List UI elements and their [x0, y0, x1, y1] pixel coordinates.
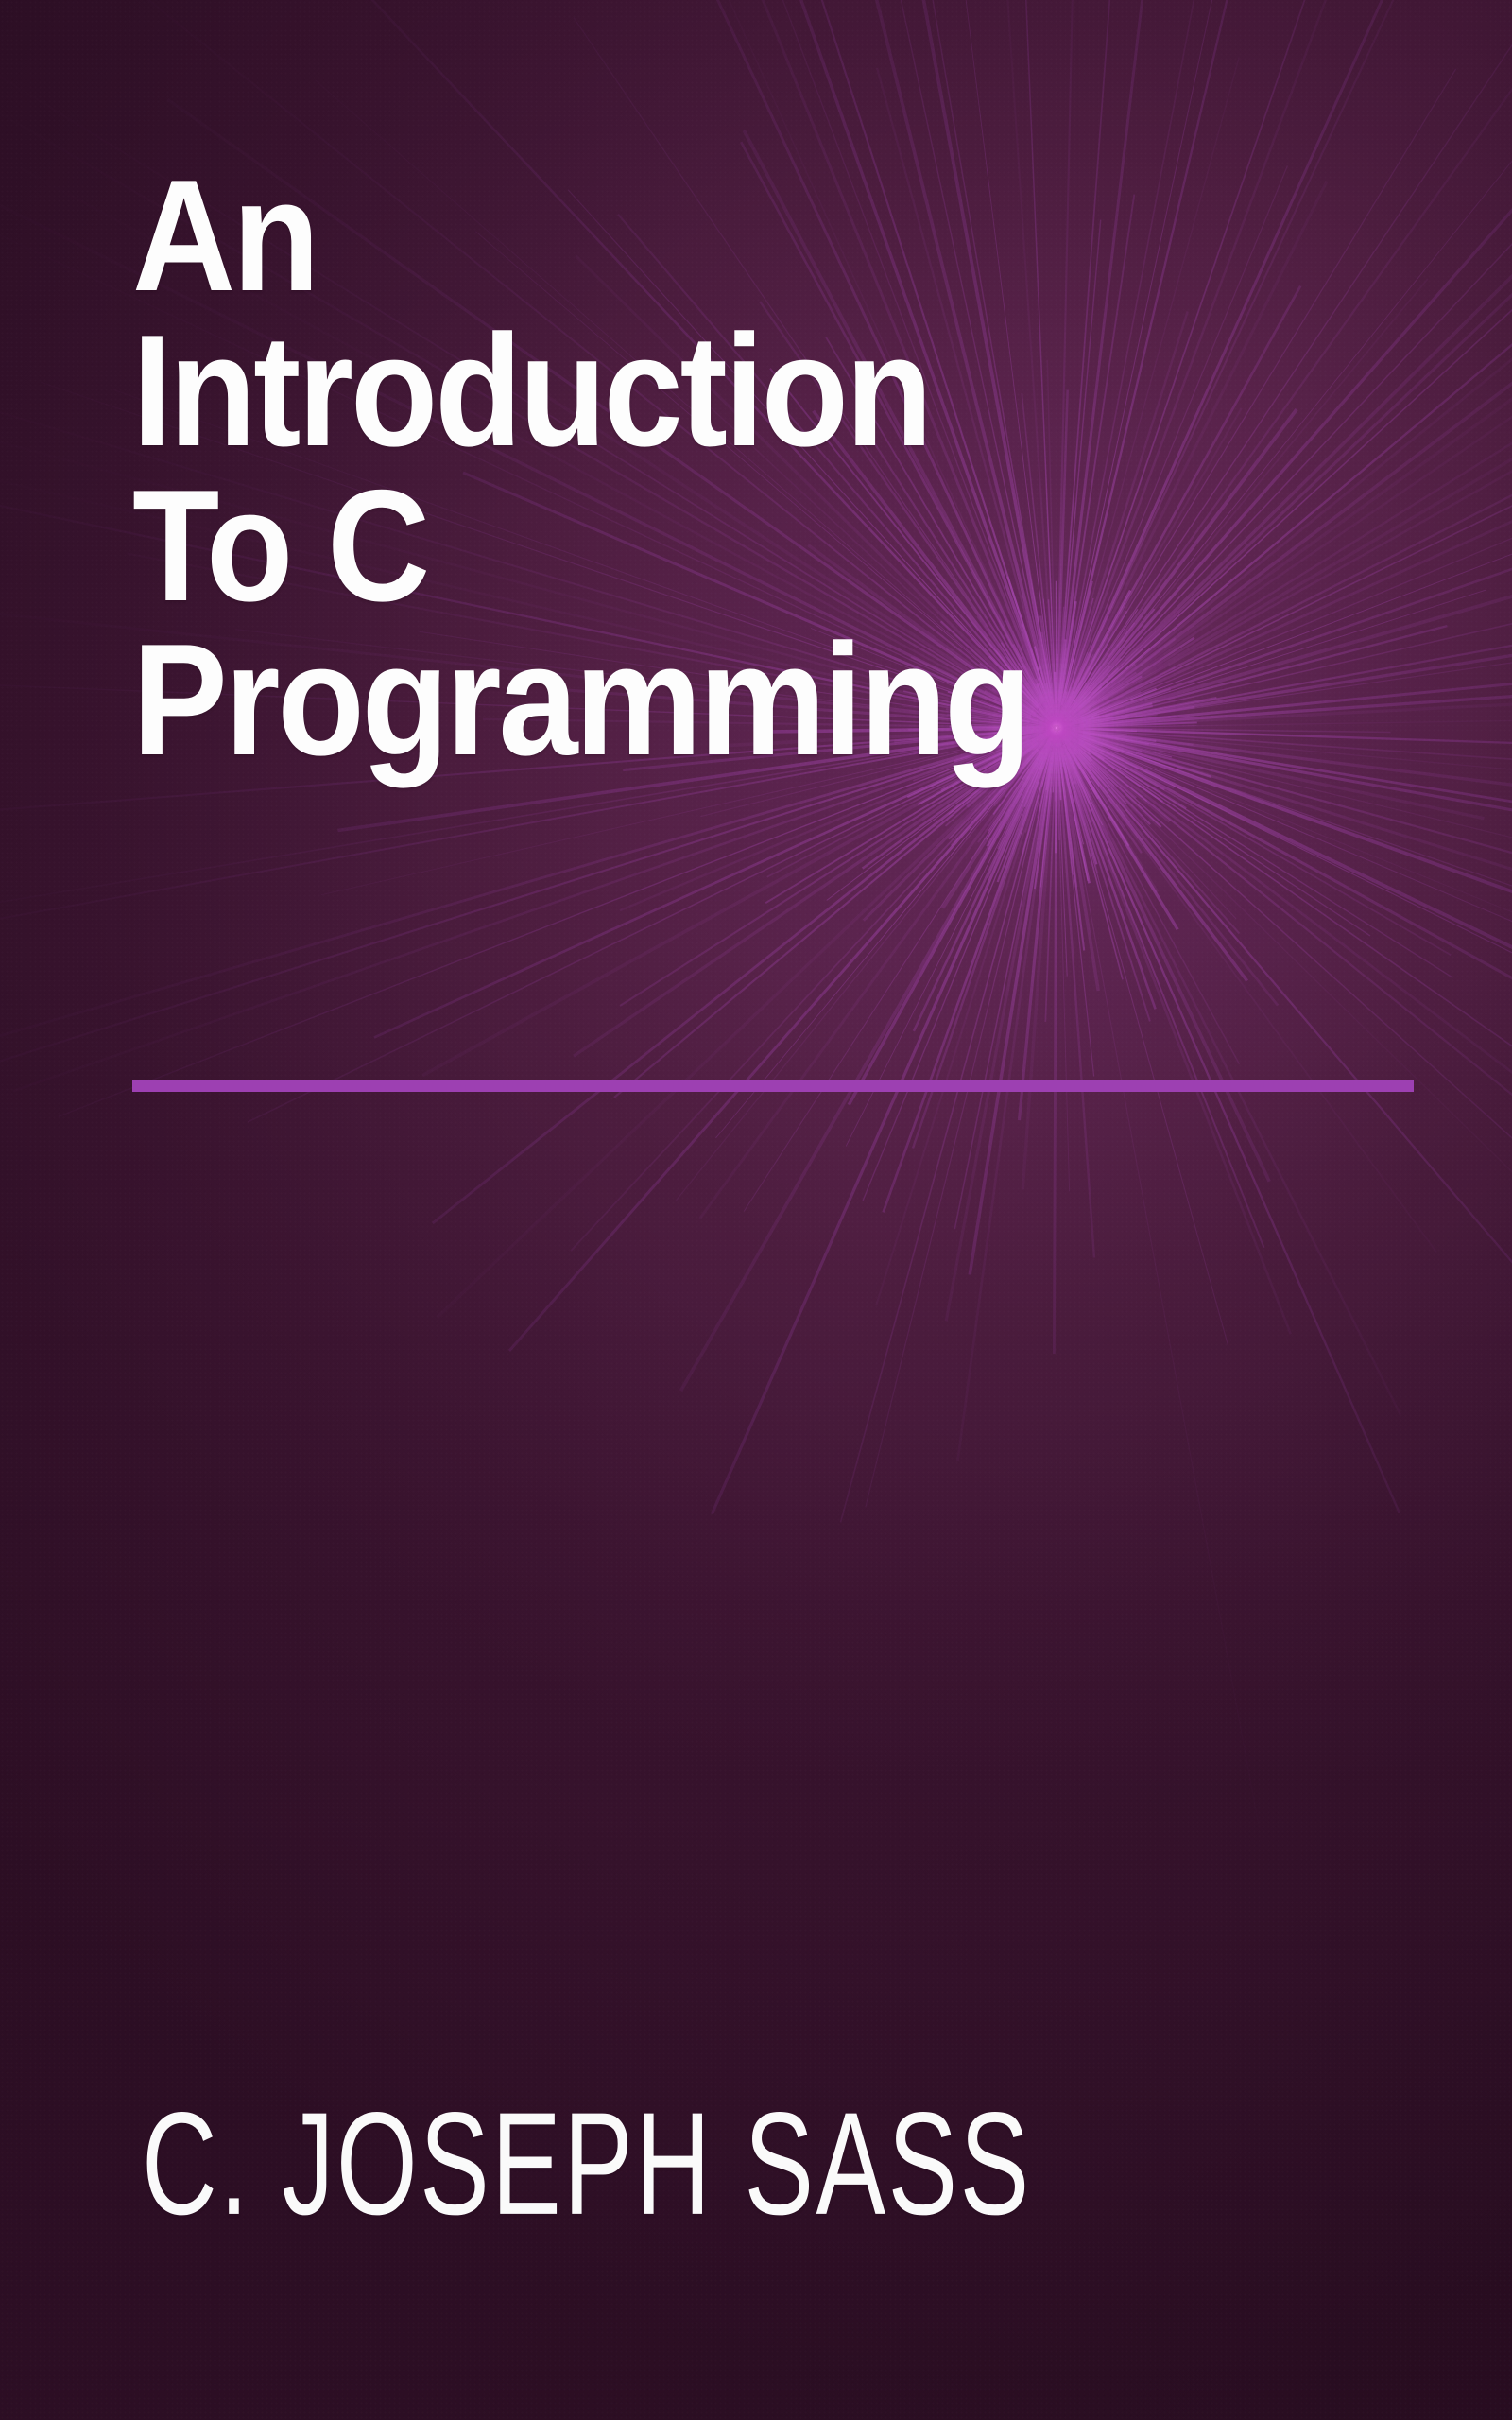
cover-content: An Introduction To C Programming C. JOSE… — [0, 0, 1512, 2420]
title-line-3: To C — [132, 469, 1306, 624]
title-line-4: Programming — [132, 623, 1306, 778]
book-title: An Introduction To C Programming — [132, 159, 1436, 778]
title-line-2: Introduction — [132, 314, 1306, 469]
title-line-1: An — [132, 159, 1306, 314]
title-underline-rule — [132, 1080, 1414, 1092]
author-name: C. JOSEPH SASS — [142, 2091, 1140, 2238]
book-cover: An Introduction To C Programming C. JOSE… — [0, 0, 1512, 2420]
